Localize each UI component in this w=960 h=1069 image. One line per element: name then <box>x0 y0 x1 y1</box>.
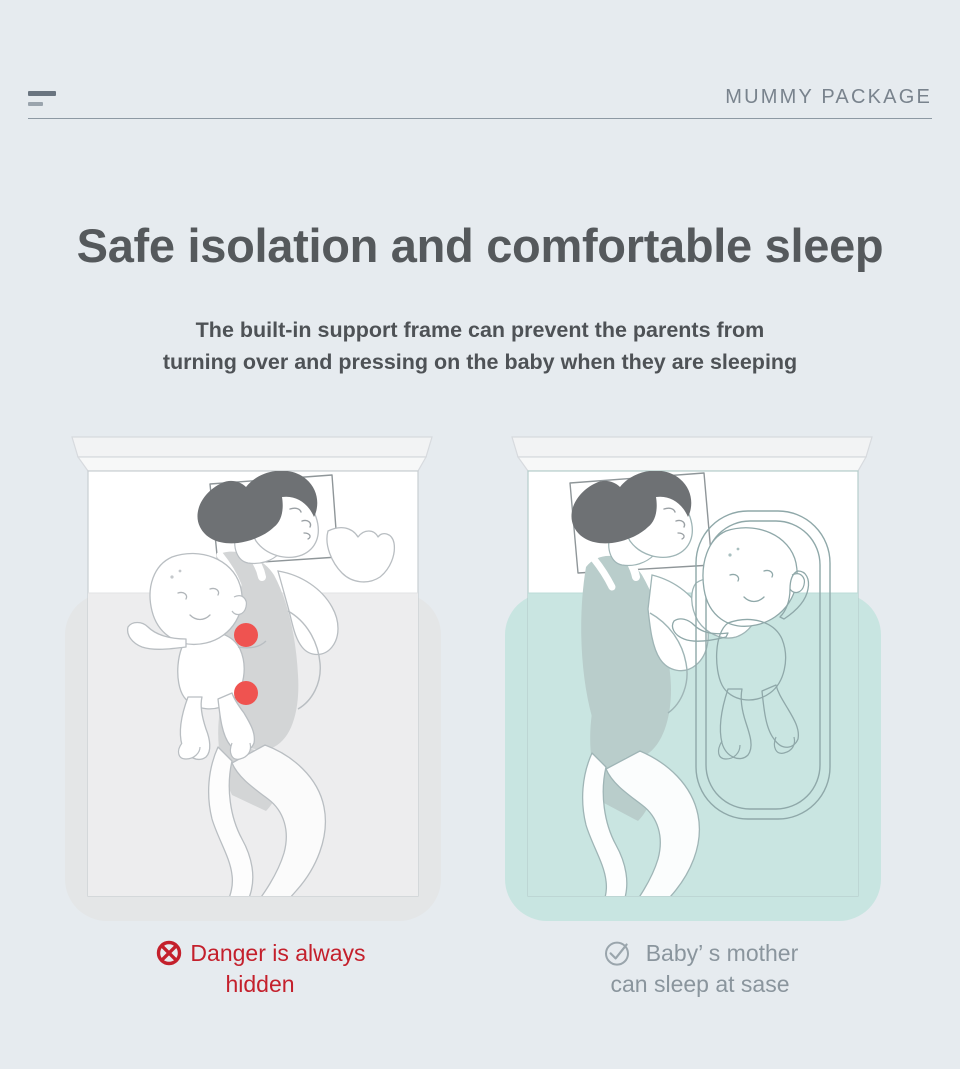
menu-bar-top <box>28 91 56 96</box>
caption-danger-line-1: Danger is always <box>190 938 365 968</box>
page-header: MUMMY PACKAGE <box>0 0 960 135</box>
caption-safe-line-1: Baby’ s mother <box>646 938 799 968</box>
illustration-safe-with-nest <box>500 425 900 935</box>
page-subtitle: The built-in support frame can prevent t… <box>0 314 960 378</box>
brand-title: MUMMY PACKAGE <box>725 86 932 109</box>
subtitle-line-2: turning over and pressing on the baby wh… <box>0 346 960 378</box>
caption-danger-line-2: hidden <box>60 968 460 1000</box>
caption-danger: Danger is always hidden <box>60 938 460 1000</box>
warning-dot-1 <box>234 623 258 647</box>
baby-head <box>150 553 242 644</box>
warning-dot-2 <box>234 681 258 705</box>
caption-safe-line-2: can sleep at sase <box>500 968 900 1000</box>
check-circle-icon <box>602 938 632 968</box>
header-divider <box>28 118 932 119</box>
page-title: Safe isolation and comfortable sleep <box>0 218 960 273</box>
illustration-unsafe-cosleeping <box>60 425 460 935</box>
headboard <box>512 437 872 471</box>
headboard <box>72 437 432 471</box>
subtitle-line-1: The built-in support frame can prevent t… <box>0 314 960 346</box>
hamburger-menu-icon[interactable] <box>28 88 64 112</box>
menu-bar-bottom <box>28 102 43 106</box>
illustration-panels <box>0 425 960 945</box>
x-circle-icon <box>154 938 184 968</box>
caption-safe: Baby’ s mother can sleep at sase <box>500 938 900 1000</box>
